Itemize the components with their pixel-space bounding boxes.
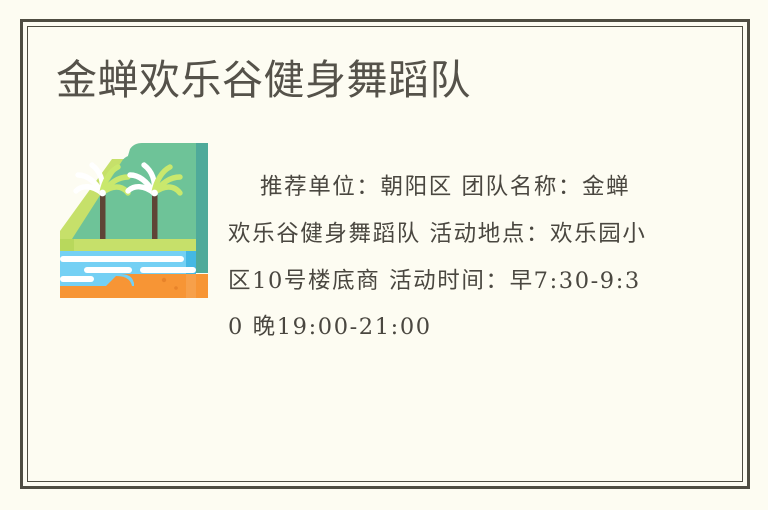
page-title: 金蝉欢乐谷健身舞蹈队: [56, 57, 471, 104]
activity-details-text: 推荐单位：朝阳区 团队名称：金蝉欢乐谷健身舞蹈队 活动地点：欢乐园小区10号楼底…: [228, 164, 653, 351]
beach-island-illustration: [60, 143, 208, 298]
poster-card: 金蝉欢乐谷健身舞蹈队: [0, 0, 768, 510]
